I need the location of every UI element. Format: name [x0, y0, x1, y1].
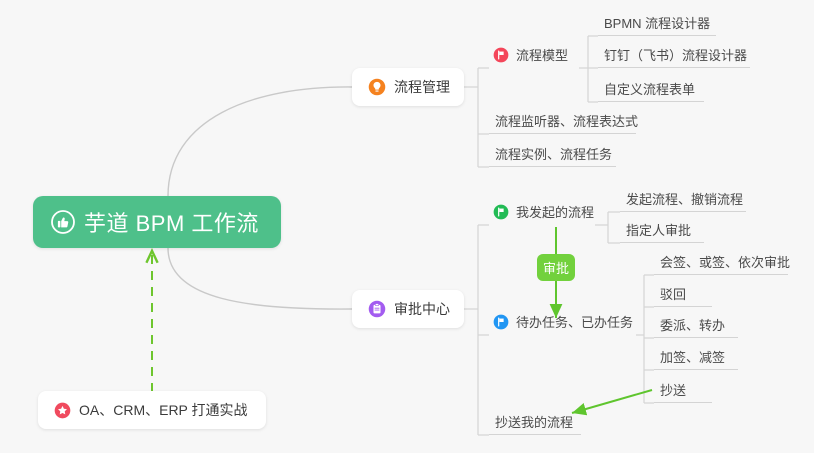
flag-circle-icon: [493, 314, 509, 330]
node-label-instance-task: 流程实例、流程任务: [495, 144, 612, 163]
node-delegate-transfer[interactable]: 委派、转办: [654, 311, 738, 338]
node-label-cc: 抄送: [660, 380, 686, 399]
node-label-dingtalk-feishu-designer: 钉钉（飞书）流程设计器: [604, 45, 747, 64]
lightbulb-circle-icon: [368, 78, 386, 96]
node-label-reject: 驳回: [660, 284, 686, 303]
node-label-start-cancel-process: 发起流程、撤销流程: [626, 189, 743, 208]
node-label-delegate-transfer: 委派、转办: [660, 315, 725, 334]
footnote-node[interactable]: OA、CRM、ERP 打通实战: [38, 391, 266, 429]
edge-root-to-approval-center: [168, 248, 352, 309]
node-label-add-remove-sign: 加签、减签: [660, 347, 725, 366]
node-custom-process-form[interactable]: 自定义流程表单: [598, 75, 704, 102]
branch-process-management[interactable]: 流程管理: [352, 68, 464, 106]
node-assignee-approval[interactable]: 指定人审批: [620, 216, 704, 243]
node-label-assignee-approval: 指定人审批: [626, 220, 691, 239]
node-my-initiated-process[interactable]: 我发起的流程: [489, 198, 595, 225]
node-label-todo-done-tasks: 待办任务、已办任务: [516, 312, 633, 331]
approval-tag-label: 审批: [543, 258, 569, 277]
node-reject[interactable]: 驳回: [654, 280, 712, 307]
node-label-process-model: 流程模型: [516, 45, 568, 64]
node-instance-task[interactable]: 流程实例、流程任务: [489, 140, 616, 167]
node-countersign-orsign-sequential[interactable]: 会签、或签、依次审批: [654, 248, 788, 275]
thumbs-up-circle-icon: [51, 210, 75, 234]
flag-circle-icon: [493, 204, 509, 220]
node-label-my-initiated-process: 我发起的流程: [516, 202, 594, 221]
branch-approval-center[interactable]: 审批中心: [352, 290, 464, 328]
cc-link-arrow: [572, 390, 652, 413]
root-label: 芋道 BPM 工作流: [84, 206, 259, 238]
node-process-model[interactable]: 流程模型: [489, 41, 579, 68]
node-label-listener-expression: 流程监听器、流程表达式: [495, 111, 638, 130]
node-label-countersign-orsign-sequential: 会签、或签、依次审批: [660, 252, 790, 271]
edge-root-to-process-management: [168, 87, 352, 196]
node-label-bpmn-designer: BPMN 流程设计器: [604, 13, 710, 32]
node-label-custom-process-form: 自定义流程表单: [604, 79, 695, 98]
node-add-remove-sign[interactable]: 加签、减签: [654, 343, 738, 370]
branch-label-process-management: 流程管理: [394, 77, 450, 97]
footnote-label: OA、CRM、ERP 打通实战: [79, 400, 248, 420]
approval-tag[interactable]: 审批: [537, 254, 575, 281]
node-label-cc-to-me-process: 抄送我的流程: [495, 412, 573, 431]
branch-label-approval-center: 审批中心: [394, 299, 450, 319]
node-bpmn-designer[interactable]: BPMN 流程设计器: [598, 9, 716, 36]
node-todo-done-tasks[interactable]: 待办任务、已办任务: [489, 308, 636, 335]
node-cc-to-me-process[interactable]: 抄送我的流程: [489, 408, 581, 435]
node-listener-expression[interactable]: 流程监听器、流程表达式: [489, 107, 636, 134]
node-start-cancel-process[interactable]: 发起流程、撤销流程: [620, 185, 746, 212]
flag-circle-icon: [493, 47, 509, 63]
mindmap-canvas: 芋道 BPM 工作流 OA、CRM、ERP 打通实战 流程管理: [0, 0, 814, 453]
node-dingtalk-feishu-designer[interactable]: 钉钉（飞书）流程设计器: [598, 41, 750, 68]
clipboard-circle-icon: [368, 300, 386, 318]
root-node[interactable]: 芋道 BPM 工作流: [33, 196, 281, 248]
star-circle-icon: [54, 402, 71, 419]
node-cc[interactable]: 抄送: [654, 376, 712, 403]
